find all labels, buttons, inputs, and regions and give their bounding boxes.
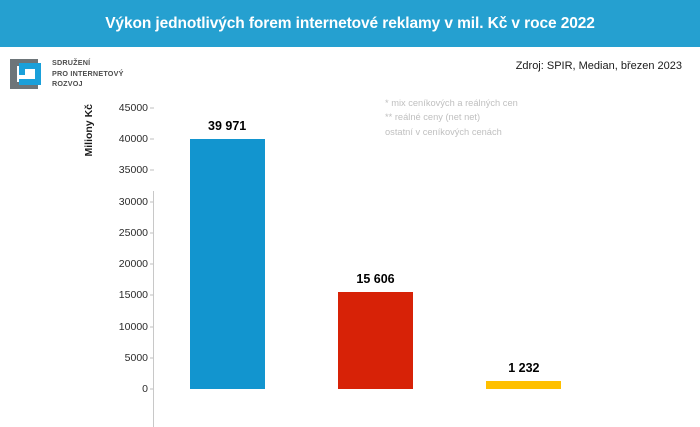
chart-page: Výkon jednotlivých forem internetové rek… — [0, 0, 700, 427]
y-tick-label: 30000 — [119, 196, 148, 208]
page-title: Výkon jednotlivých forem internetové rek… — [105, 15, 595, 33]
y-tick-label: 25000 — [119, 227, 148, 239]
bar-value-label: 1 232 — [464, 361, 584, 375]
y-axis-line — [153, 191, 154, 427]
logo-line-1: SDRUŽENÍ — [52, 58, 90, 67]
y-tick-label: 35000 — [119, 164, 148, 176]
bar-3[interactable] — [486, 381, 561, 389]
y-tick-mark — [150, 139, 154, 140]
bar-value-label: 39 971 — [167, 119, 287, 133]
bar-value-label: 15 606 — [316, 272, 436, 286]
header-banner: Výkon jednotlivých forem internetové rek… — [0, 0, 700, 47]
source-text: Zdroj: SPIR, Median, březen 2023 — [516, 60, 682, 72]
y-tick-mark — [150, 170, 154, 171]
y-tick-mark — [150, 108, 154, 109]
y-tick-label: 20000 — [119, 258, 148, 270]
bar-1[interactable] — [190, 139, 265, 389]
y-tick-label: 0 — [142, 383, 148, 395]
bar-chart: 0500010000150002000025000300003500040000… — [0, 85, 700, 427]
y-tick-label: 10000 — [119, 321, 148, 333]
logo-line-2: PRO INTERNETOVÝ — [52, 69, 124, 78]
y-tick-label: 15000 — [119, 289, 148, 301]
y-tick-label: 40000 — [119, 133, 148, 145]
y-tick-label: 45000 — [119, 102, 148, 114]
bar-2[interactable] — [338, 292, 413, 389]
y-tick-label: 5000 — [125, 352, 148, 364]
